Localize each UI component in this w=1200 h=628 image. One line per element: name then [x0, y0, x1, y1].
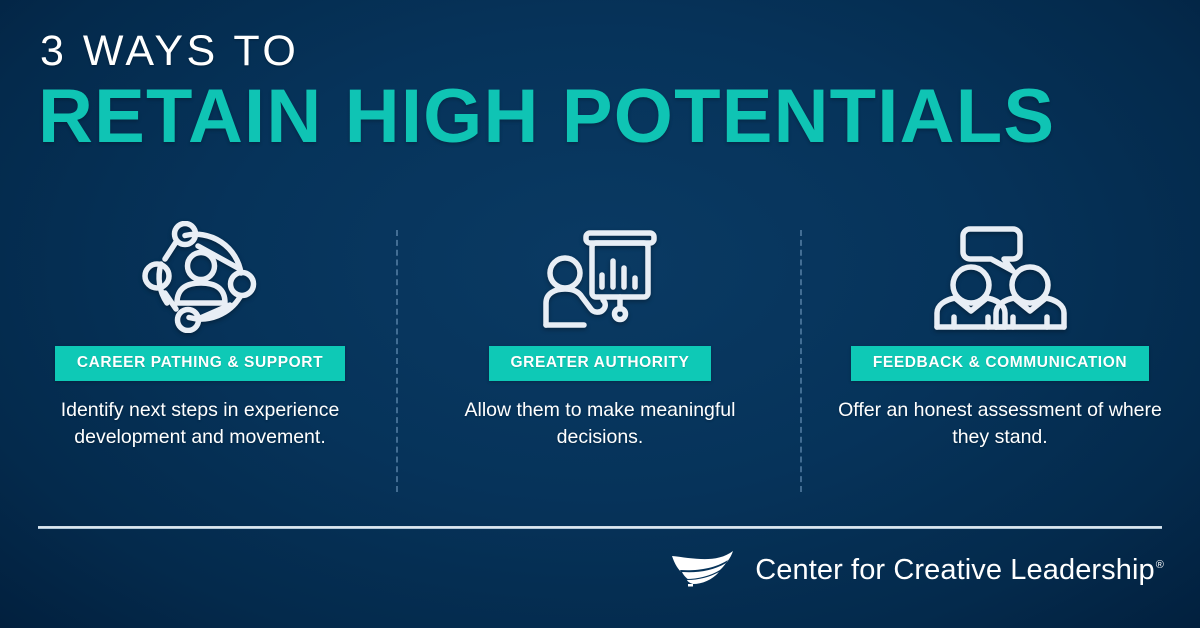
network-people-icon [141, 218, 259, 336]
footer-divider-rule [38, 526, 1162, 529]
two-people-speech-bubble-icon [925, 218, 1075, 336]
column-feedback-communication: FEEDBACK & COMMUNICATION Offer an honest… [800, 218, 1200, 503]
presenter-chart-icon [538, 218, 662, 336]
infographic-canvas: 3 WAYS TO RETAIN HIGH POTENTIALS [0, 0, 1200, 628]
ccl-swoosh-logo-mark [670, 548, 742, 593]
ccl-logo-text: Center for Creative Leadership® [755, 556, 1164, 585]
headline-block: 3 WAYS TO RETAIN HIGH POTENTIALS [38, 30, 1168, 155]
description-career-pathing: Identify next steps in experience develo… [35, 397, 365, 452]
column-career-pathing: CAREER PATHING & SUPPORT Identify next s… [0, 218, 400, 503]
badge-career-pathing[interactable]: CAREER PATHING & SUPPORT [55, 346, 345, 381]
badge-greater-authority[interactable]: GREATER AUTHORITY [489, 346, 712, 381]
ccl-logo[interactable]: Center for Creative Leadership® [670, 548, 1164, 593]
badge-feedback-communication[interactable]: FEEDBACK & COMMUNICATION [851, 346, 1149, 381]
registered-trademark-icon: ® [1156, 559, 1164, 571]
kicker-text: 3 WAYS TO [40, 30, 1168, 73]
column-greater-authority: GREATER AUTHORITY Allow them to make mea… [400, 218, 800, 503]
description-feedback-communication: Offer an honest assessment of where they… [835, 397, 1165, 452]
description-greater-authority: Allow them to make meaningful decisions. [435, 397, 765, 452]
ccl-logo-wordmark: Center for Creative Leadership [755, 554, 1155, 586]
page-title: RETAIN HIGH POTENTIALS [38, 79, 1168, 155]
three-column-section: CAREER PATHING & SUPPORT Identify next s… [0, 218, 1200, 503]
